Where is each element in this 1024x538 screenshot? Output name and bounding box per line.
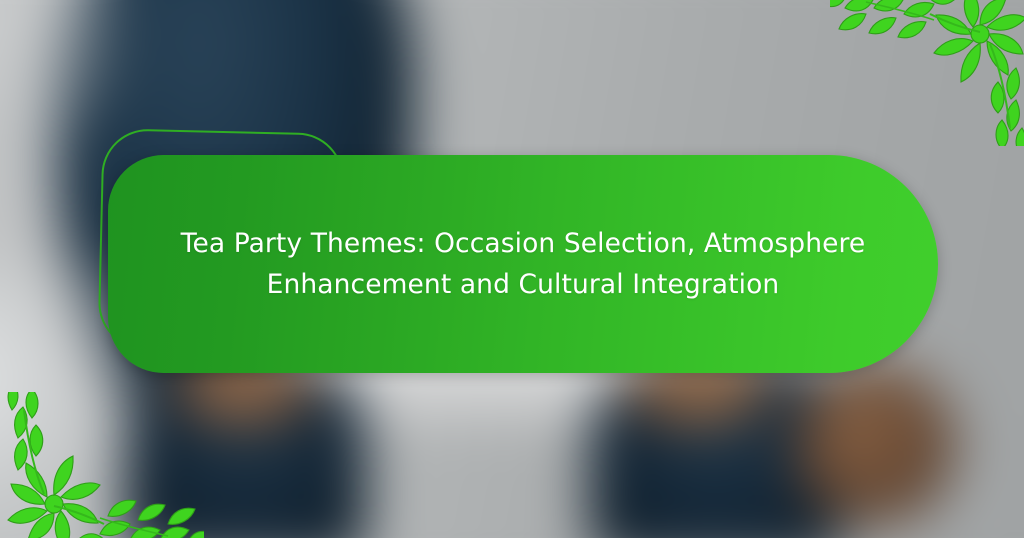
background-arm-right	[796, 365, 955, 524]
title-card: Tea Party Themes: Occasion Selection, At…	[108, 155, 938, 373]
banner-canvas: Tea Party Themes: Occasion Selection, At…	[0, 0, 1024, 538]
background-highlight-top-left	[0, 0, 118, 175]
page-title: Tea Party Themes: Occasion Selection, At…	[174, 223, 872, 305]
